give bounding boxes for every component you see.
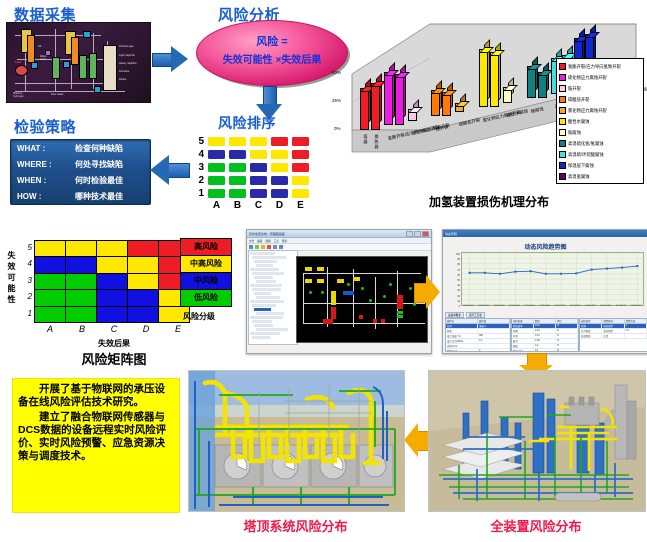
maximize-icon[interactable]	[414, 231, 421, 237]
dcs-tree-item[interactable]	[250, 284, 282, 287]
risk-ranking-cell	[292, 150, 309, 159]
risk-ranking-cell	[250, 189, 267, 198]
matrix-cell	[66, 290, 97, 306]
trend-x-tick: 2015/12/01	[629, 305, 644, 307]
matrix-cell	[66, 273, 97, 289]
dcs-menu-item[interactable]: 工具	[274, 239, 279, 243]
matrix-y-tick: 2	[22, 289, 32, 305]
strategy-value-where: 何处寻找缺陷	[69, 156, 150, 172]
equipment-parameter-table[interactable]: 属性名属性值名称塔器-1材质设计温度(℃)380设计压力(MPa)3.2内径(m…	[445, 318, 511, 352]
risk-ranking-cell	[292, 176, 309, 185]
process-flow-diagram-image: Process gas Light naphtha Heavy naphtha …	[6, 22, 151, 103]
matrix-y-tick: 3	[22, 273, 32, 289]
toolbar-icon-3[interactable]	[261, 245, 265, 249]
table-cell: 开裂	[512, 334, 534, 338]
callout-paragraph-1: 开展了基于物联网的承压设备在线风险评估技术研究。	[18, 383, 174, 409]
risk-ranking-cell	[229, 163, 246, 172]
chart-legend-swatch	[559, 162, 566, 169]
chart-legend-label: 高温硫化氢/氢腐蚀	[568, 141, 604, 147]
table-cell: %	[556, 334, 578, 338]
risk-ranking-cell	[208, 189, 225, 198]
whole-plant-3d-image	[428, 370, 646, 512]
matrix-x-tick: E	[162, 324, 194, 334]
chart-legend-swatch	[559, 74, 566, 81]
risk-level-legend: 高风险中高风险中风险低风险	[180, 238, 232, 307]
table-cell: 减薄	[512, 329, 534, 333]
matrix-y-ticks: 54321	[22, 240, 32, 322]
matrix-cell	[35, 273, 66, 289]
table-cell: 内径(mm)	[446, 344, 478, 348]
table-cell: 设计温度(℃)	[446, 334, 478, 338]
risk-ranking-cell	[292, 189, 309, 198]
table-header-cell: 单位	[556, 319, 578, 323]
matrix-row	[35, 290, 190, 306]
table-header-cell: 预警信息	[625, 319, 647, 323]
chart-legend-swatch	[559, 85, 566, 92]
risk-ranking-grid: 54321ABCDE	[192, 135, 313, 211]
trend-x-tick: 2015/02/01	[476, 305, 491, 307]
dcs-tree-item[interactable]	[250, 332, 280, 335]
toolbar-icon-5[interactable]	[273, 245, 277, 249]
table-cell: %	[556, 324, 578, 328]
risk-level-legend-title: 风险分级	[183, 312, 225, 322]
strategy-value-what: 检查何种缺陷	[69, 140, 150, 156]
inspection-strategy-row: HOW : 哪种技术最佳	[11, 188, 150, 204]
table-header-cell: 属性名	[446, 319, 478, 323]
trend-x-tick: 2015/03/01	[492, 305, 507, 307]
table-row[interactable]: 外部腐蚀正常	[580, 334, 647, 339]
table-cell: 3	[625, 324, 647, 328]
table-cell: 设计压力(MPa)	[446, 339, 478, 343]
table-cell: %	[556, 339, 578, 343]
strategy-value-when: 何时检验最佳	[69, 172, 150, 188]
arrow-left-icon-ranking-to-strategy	[150, 155, 190, 185]
matrix-row	[35, 257, 190, 273]
dcs-tree-item[interactable]	[254, 292, 271, 295]
matrix-row	[35, 306, 190, 322]
pipes-3d-render	[189, 371, 404, 511]
chart-legend-row: 酸性水腐蚀	[559, 116, 641, 127]
trend-line-series	[462, 253, 645, 305]
minimize-icon[interactable]	[406, 231, 413, 237]
dcs-tree-item[interactable]	[256, 296, 280, 299]
matrix-row	[35, 273, 190, 289]
table-cell: 正常	[602, 334, 624, 338]
trend-plot-area	[461, 252, 644, 306]
strategy-value-how: 哪种技术最佳	[69, 188, 150, 204]
matrix-cell	[66, 257, 97, 273]
dcs-tree-item[interactable]	[250, 316, 283, 319]
matrix-x-tick: D	[130, 324, 162, 334]
matrix-cell	[128, 306, 159, 322]
arrow-left-icon-plant-to-pipes	[404, 423, 430, 457]
chart-legend-row: 高温硫/环烷酸腐蚀	[559, 149, 641, 160]
matrix-y-tick: 1	[22, 306, 32, 322]
chart-legend-row: 保温层下腐蚀	[559, 160, 641, 171]
matrix-cell	[66, 306, 97, 322]
pipes-caption: 塔顶系统风险分布	[188, 516, 403, 535]
risk-legend-item: 低风险	[181, 290, 231, 306]
chart-legend-label: 保温层下腐蚀	[568, 163, 594, 169]
toolbar-icon-4[interactable]	[267, 245, 271, 249]
trend-x-tick: 2015/06/01	[537, 305, 552, 307]
matrix-cell	[128, 290, 159, 306]
risk-ranking-row: 5	[192, 135, 313, 148]
table-cell: 3.2	[478, 339, 510, 343]
chart-legend: 氢脆开裂/应力导向氢致开裂硫化物应力腐蚀开裂胺开裂碳酸盐开裂氯化物应力腐蚀开裂酸…	[556, 58, 644, 184]
chart-legend-swatch	[559, 173, 566, 180]
matrix-cell	[97, 257, 128, 273]
matrix-x-axis-label: 失效后果	[34, 338, 194, 349]
inspection-strategy-row: WHERE : 何处寻找缺陷	[11, 156, 150, 172]
risk-legend-item: 中高风险	[181, 256, 231, 273]
trend-x-tick: 2015/04/01	[507, 305, 522, 307]
trend-x-tick: 2015/05/01	[522, 305, 537, 307]
trend-x-tick: 2015/08/01	[568, 305, 583, 307]
chart-legend-swatch	[559, 151, 566, 158]
matrix-cell	[128, 241, 159, 257]
table-cell: 蓝色预警	[602, 329, 624, 333]
chart-legend-row: 高温氢腐蚀	[559, 171, 641, 182]
risk-ranking-cell	[271, 163, 288, 172]
risk-ranking-row: 3	[192, 161, 313, 174]
dcs-tree-item[interactable]	[250, 252, 275, 255]
dcs-menu-item[interactable]: 帮助	[282, 239, 287, 243]
risk-ranking-cell	[229, 176, 246, 185]
risk-ranking-row-label: 1	[192, 188, 204, 199]
toolbar-icon-2[interactable]	[255, 245, 259, 249]
strategy-key-what: WHAT :	[11, 140, 69, 156]
plant-caption: 全装置风险分布	[428, 516, 644, 535]
callout-paragraph-2: 建立了融合物联网传感器与DCS数据的设备远程实时风险评价、实时风险预警、应急资源…	[18, 411, 174, 463]
table-cell: 应力腐蚀	[580, 329, 602, 333]
risk-ranking-cell	[271, 150, 288, 159]
chart-legend-swatch	[559, 63, 566, 70]
inspection-strategy-box: WHAT : 检查何种缺陷 WHERE : 何处寻找缺陷 WHEN : 何时检验…	[10, 139, 151, 205]
risk-formula-line2: 失效可能性 ×失效后果	[197, 51, 347, 66]
matrix-cell	[35, 257, 66, 273]
chart-legend-label: 氢脆开裂/应力导向氢致开裂	[568, 64, 621, 70]
matrix-y-tick: 5	[22, 240, 32, 256]
risk-ranking-cell	[229, 137, 246, 146]
table-cell: 外部腐蚀	[580, 334, 602, 338]
toolbar-icon-6[interactable]	[279, 245, 283, 249]
chart-legend-label: 高温硫/环烷酸腐蚀	[568, 152, 604, 158]
table-header-cell: 损伤机理	[512, 319, 534, 323]
matrix-x-tick: A	[34, 324, 66, 334]
inspection-strategy-title: 检验策略	[14, 116, 76, 137]
chart-legend-swatch	[559, 107, 566, 114]
strategy-key-when: WHEN :	[11, 172, 69, 188]
risk-ranking-row-label: 3	[192, 162, 204, 173]
matrix-x-tick: C	[98, 324, 130, 334]
dcs-tree-item[interactable]	[254, 276, 273, 279]
chart-legend-label: 胺腐蚀	[568, 130, 581, 136]
risk-matrix-table	[34, 240, 190, 323]
matrix-cell	[128, 273, 159, 289]
risk-ranking-cell	[271, 137, 288, 146]
table-cell: 壁厚(mm)	[446, 349, 478, 352]
chart-legend-row: 胺腐蚀	[559, 127, 641, 138]
table-header-cell: 属性值	[478, 319, 510, 323]
table-cell: %	[556, 344, 578, 348]
table-cell: 0.20	[534, 329, 556, 333]
inspection-strategy-row: WHAT : 检查何种缺陷	[11, 140, 150, 156]
table-cell: %	[556, 349, 578, 352]
risk-ranking-cell	[229, 150, 246, 159]
chart-legend-label: 酸性水腐蚀	[568, 119, 589, 125]
risk-ranking-cell	[271, 176, 288, 185]
chart-legend-label: 碳酸盐开裂	[568, 97, 589, 103]
arrow-right-icon-data-to-risk	[152, 46, 188, 72]
plant-3d-render	[429, 371, 645, 511]
table-cell	[478, 344, 510, 348]
risk-matrix-caption: 风险矩阵图	[34, 349, 194, 368]
close-icon[interactable]	[422, 231, 429, 237]
risk-legend-item: 高风险	[181, 239, 231, 256]
chart-legend-row: 硫化物应力腐蚀开裂	[559, 72, 641, 83]
alarm-level-table[interactable]: 损伤类型预警级别预警信息减薄黄色预警3应力腐蚀蓝色预警0.0外部腐蚀正常	[579, 318, 647, 352]
dcs-window-title: 实时监控系统 - 流程图画面	[249, 232, 285, 236]
dcs-tree-item[interactable]	[256, 328, 288, 331]
dcs-window-buttons[interactable]	[406, 231, 429, 237]
trend-x-tick: 2015/07/01	[553, 305, 568, 307]
matrix-cell	[97, 273, 128, 289]
dcs-tree-item[interactable]	[254, 260, 277, 263]
risk-ranking-row: 1	[192, 187, 313, 200]
matrix-cell	[35, 306, 66, 322]
chart-legend-swatch	[559, 118, 566, 125]
risk-ranking-cell	[208, 163, 225, 172]
matrix-x-tick: B	[66, 324, 98, 334]
matrix-x-ticks: ABCDE	[34, 324, 194, 334]
matrix-cell	[35, 241, 66, 257]
table-cell: 380	[478, 334, 510, 338]
table-cell: 0.08	[534, 339, 556, 343]
trend-window-titlebar[interactable]: 动态风险	[443, 230, 647, 237]
chart-caption: 加氢装置损伤机理分布	[404, 193, 574, 210]
matrix-cell	[66, 241, 97, 257]
tower-top-system-3d-image	[188, 370, 405, 512]
dcs-tree-item[interactable]	[256, 312, 284, 315]
table-row[interactable]: 壁厚(mm)0	[446, 349, 510, 352]
risk-ranking-row: 4	[192, 148, 313, 161]
chart-legend-row: 胺开裂	[559, 83, 641, 94]
chart-legend-swatch	[559, 129, 566, 136]
risk-ranking-col-label: A	[208, 200, 225, 211]
risk-ranking-cell	[271, 189, 288, 198]
table-cell: 0.10	[534, 324, 556, 328]
matrix-cell	[97, 306, 128, 322]
risk-ranking-cell	[250, 137, 267, 146]
arrow-right-icon-dcs-to-trend	[414, 275, 440, 309]
risk-formula-ellipse: 风险 = 失效可能性 ×失效后果	[196, 20, 348, 86]
table-header-cell: 损伤类型	[580, 319, 602, 323]
risk-legend-item: 中风险	[181, 273, 231, 290]
table-cell: 0.1	[534, 349, 556, 352]
dcs-tree-item[interactable]	[252, 336, 270, 339]
dcs-flow-diagram-canvas[interactable]	[296, 256, 428, 343]
table-cell: 0.14	[534, 334, 556, 338]
table-cell: 塔器-1	[478, 324, 510, 328]
dcs-tree-item[interactable]	[256, 280, 276, 283]
risk-ranking-cell	[208, 137, 225, 146]
chart-x-category-label: 塔器	[362, 134, 369, 144]
damage-mechanism-3d-bar-chart: 0% 25% 50% 氢脆开裂/应力导向氢致开裂硫化物应力腐蚀开裂胺开裂碳酸盐开…	[330, 18, 647, 190]
risk-ranking-col-label: D	[271, 200, 288, 211]
strategy-key-where: WHERE :	[11, 156, 69, 172]
research-summary-callout: 开展了基于物联网的承压设备在线风险评估技术研究。 建立了融合物联网传感器与DCS…	[12, 378, 180, 513]
dcs-menu-item[interactable]: 视图	[265, 239, 270, 243]
table-cell: 疲劳	[512, 339, 534, 343]
table-cell	[478, 329, 510, 333]
matrix-cell	[97, 290, 128, 306]
dcs-tree-item[interactable]	[254, 308, 271, 311]
chart-legend-label: 胺开裂	[568, 86, 581, 92]
dcs-device-tree[interactable]	[248, 250, 298, 345]
matrix-cell	[128, 257, 159, 273]
chart-legend-row: 氯化物应力腐蚀开裂	[559, 105, 641, 116]
matrix-cell	[35, 290, 66, 306]
chart-legend-row: 碳酸盐开裂	[559, 94, 641, 105]
trend-x-tick: 2015/01/01	[461, 305, 476, 307]
chart-legend-label: 硫化物应力腐蚀开裂	[568, 75, 607, 81]
risk-ranking-cell	[250, 163, 267, 172]
dcs-tree-item[interactable]	[252, 320, 272, 323]
dcs-window-titlebar[interactable]: 实时监控系统 - 流程图画面	[247, 230, 431, 238]
trend-x-tick: 2015/10/01	[598, 305, 613, 307]
dcs-menu-item[interactable]: 编辑	[257, 239, 262, 243]
table-cell: 腐蚀速率	[512, 324, 534, 328]
matrix-y-axis-label: 失效可能性	[6, 250, 17, 305]
risk-ranking-row-label: 5	[192, 136, 204, 147]
dcs-tree-item[interactable]	[252, 288, 281, 291]
table-cell: 0.0	[625, 329, 647, 333]
chart-legend-row: 氢脆开裂/应力导向氢致开裂	[559, 61, 641, 72]
dcs-tree-item[interactable]	[252, 256, 286, 259]
matrix-cell	[97, 241, 128, 257]
chart-legend-swatch	[559, 140, 566, 147]
dcs-tree-item[interactable]	[252, 304, 276, 307]
dcs-tree-item[interactable]	[254, 324, 273, 327]
dcs-monitoring-window[interactable]: 实时监控系统 - 流程图画面 文件编辑视图工具帮助	[246, 229, 432, 354]
risk-ranking-cell	[208, 176, 225, 185]
table-cell: 名称	[446, 324, 478, 328]
trend-x-tick: 2015/11/01	[614, 305, 629, 307]
risk-ranking-cell	[292, 163, 309, 172]
chart-legend-row: 高温硫化氢/氢腐蚀	[559, 138, 641, 149]
table-row[interactable]: 腐蚀开裂0.1%	[512, 349, 578, 352]
risk-ranking-col-labels: ABCDE	[208, 200, 313, 211]
table-cell	[625, 334, 647, 338]
trend-x-tick: 2015/09/01	[583, 305, 598, 307]
risk-ranking-cell	[250, 176, 267, 185]
table-header-cell: 数值	[534, 319, 556, 323]
risk-formula-line1: 风险 =	[197, 33, 347, 49]
risk-ranking-cell	[250, 150, 267, 159]
dcs-tree-item[interactable]	[250, 300, 284, 303]
dynamic-risk-trend-window[interactable]: 动态风险 动态风险趋势图 1009080706050403020100 2015…	[442, 229, 647, 354]
dcs-menu-item[interactable]: 文件	[249, 239, 254, 243]
table-cell: 黄色预警	[602, 324, 624, 328]
damage-mechanism-table[interactable]: 损伤机理数值单位腐蚀速率0.10%减薄0.20%开裂0.14%疲劳0.08%蠕变…	[511, 318, 579, 352]
inspection-strategy-row: WHEN : 何时检验最佳	[11, 172, 150, 188]
dcs-tree-item[interactable]	[256, 264, 273, 267]
trend-y-tick: 0	[445, 304, 460, 309]
matrix-y-tick: 4	[22, 256, 32, 272]
trend-y-ticks: 1009080706050403020100	[445, 252, 460, 304]
trend-window-title: 动态风险	[445, 232, 457, 236]
table-cell: 减薄	[580, 324, 602, 328]
trend-chart-title: 动态风险趋势图	[443, 242, 647, 251]
strategy-key-how: HOW :	[11, 188, 69, 204]
risk-ranking-row-label: 4	[192, 149, 204, 160]
table-cell: 蠕变	[512, 344, 534, 348]
table-cell: 材质	[446, 329, 478, 333]
dcs-tree-item[interactable]	[250, 268, 279, 271]
risk-ranking-cell	[208, 150, 225, 159]
dcs-tree-item[interactable]	[252, 272, 284, 275]
chart-legend-swatch	[559, 96, 566, 103]
risk-ranking-title: 风险排序	[218, 113, 276, 133]
trend-x-ticks: 2015/01/012015/02/012015/03/012015/04/01…	[461, 305, 644, 307]
risk-ranking-col-label: C	[250, 200, 267, 211]
risk-ranking-cell	[292, 137, 309, 146]
risk-ranking-col-label: E	[292, 200, 309, 211]
risk-ranking-col-label: B	[229, 200, 246, 211]
table-header-cell: 预警级别	[602, 319, 624, 323]
risk-ranking-row: 2	[192, 174, 313, 187]
toolbar-icon-1[interactable]	[249, 245, 253, 249]
risk-ranking-row-label: 2	[192, 175, 204, 186]
chart-legend-label: 高温氢腐蚀	[568, 174, 589, 180]
table-cell: 0	[478, 349, 510, 352]
chart-x-category-label: 换热器	[373, 134, 380, 149]
table-cell: %	[556, 329, 578, 333]
risk-ranking-cell	[229, 189, 246, 198]
table-cell: 腐蚀开裂	[512, 349, 534, 352]
table-cell: 0.2	[534, 344, 556, 348]
matrix-row	[35, 241, 190, 257]
chart-legend-label: 氯化物应力腐蚀开裂	[568, 108, 607, 114]
